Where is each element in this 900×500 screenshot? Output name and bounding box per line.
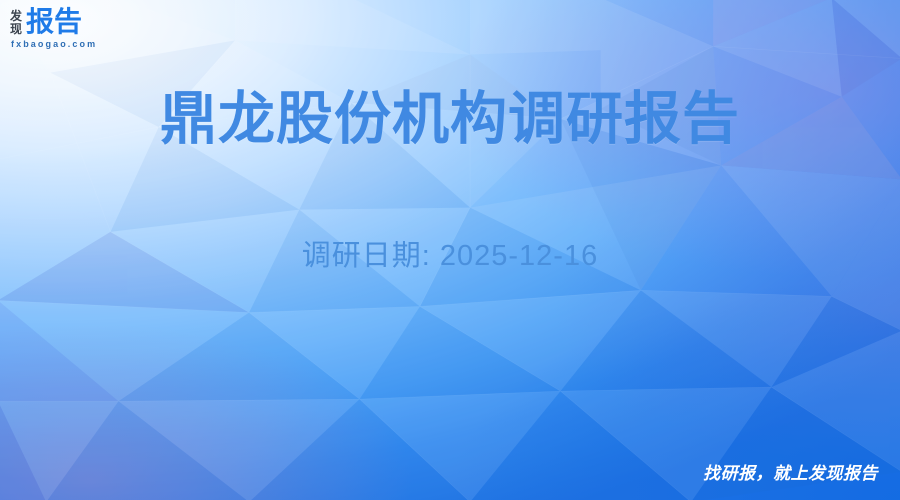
page-title: 鼎龙股份机构调研报告 [0,86,900,153]
report-cover: 发 现 报告 fxbaogao.com 鼎龙股份机构调研报告 调研日期: 202… [0,0,900,500]
footer-slogan: 找研报，就上发现报告 [703,459,878,484]
logo-main-word: 报告 [26,8,82,36]
site-logo[interactable]: 发 现 报告 fxbaogao.com [10,8,97,49]
survey-date-subtitle: 调研日期: 2025-12-16 [0,232,900,274]
logo-stacked-characters: 发 现 [10,9,22,34]
logo-domain-text: fxbaogao.com [11,39,97,49]
logo-wordmark: 发 现 报告 [10,8,82,36]
logo-char-fa: 发 [10,10,22,22]
logo-char-xian: 现 [10,23,22,35]
